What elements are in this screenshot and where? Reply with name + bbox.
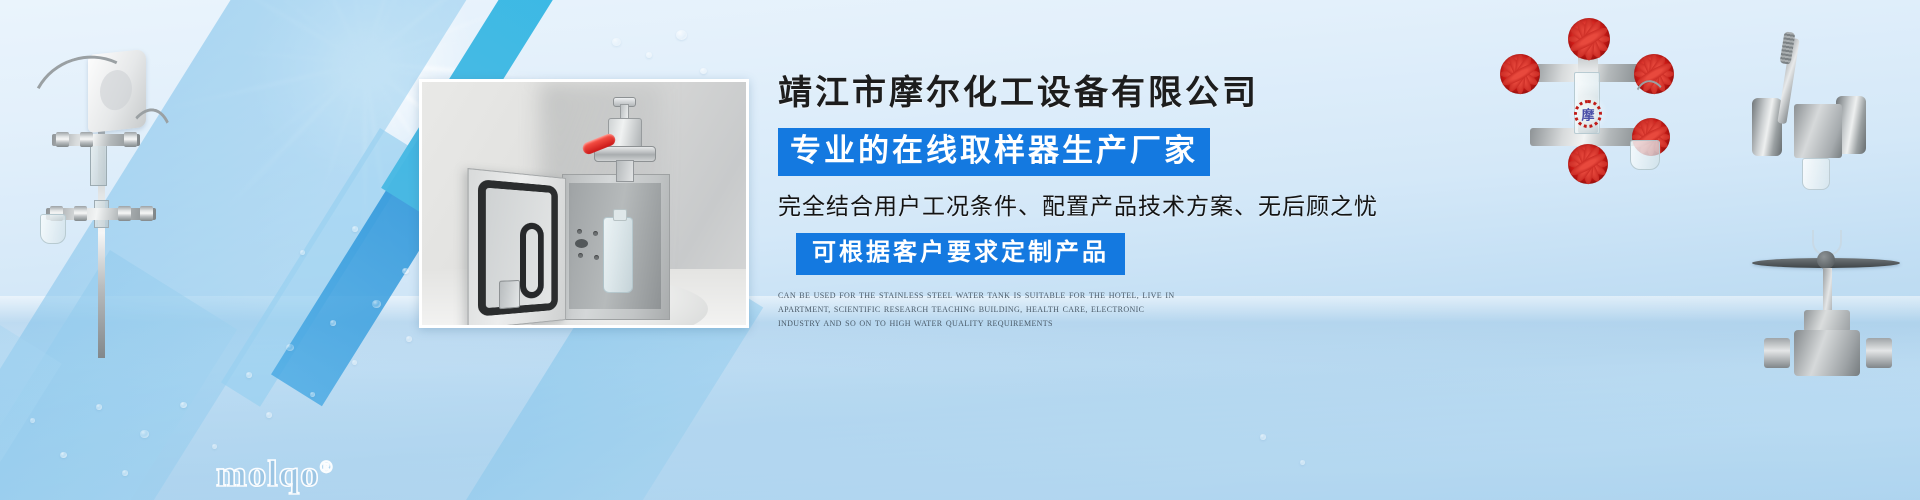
valve-manifold xyxy=(52,134,140,146)
valve-port-left xyxy=(1764,338,1790,368)
water-droplet-icon xyxy=(1300,460,1305,465)
cabinet-bolt-holes xyxy=(577,229,599,265)
valve-crossbar xyxy=(1530,128,1648,146)
water-droplet-icon xyxy=(30,418,35,423)
water-droplet-icon xyxy=(122,470,128,476)
sun-ray xyxy=(364,0,366,63)
watermark-text: molqo xyxy=(216,454,320,495)
water-droplet-icon xyxy=(406,336,412,342)
valve-crossbar xyxy=(1530,64,1648,82)
sun-ray xyxy=(246,0,365,64)
handwheel-left xyxy=(1500,54,1540,94)
sampling-station-with-display-panel xyxy=(6,22,171,284)
sample-bottle xyxy=(603,217,633,293)
online-sampler-cabinet-photo[interactable] xyxy=(419,79,749,328)
sight-glass-tube xyxy=(1574,72,1600,134)
sun-ray xyxy=(263,38,365,63)
english-paragraph: CAN BE USED FOR THE STAINLESS STEEL WATE… xyxy=(778,289,1178,332)
brand-watermark: molqo® xyxy=(216,456,333,493)
water-droplet-icon xyxy=(1260,434,1266,440)
diagonal-stripe-decoration xyxy=(0,300,62,500)
sun-ray xyxy=(363,63,410,158)
watermark-registered-mark: ® xyxy=(320,458,334,477)
handwheel-bottom xyxy=(1568,144,1608,184)
tagline-highlight: 可根据客户要求定制产品 xyxy=(796,233,1125,275)
cabinet-interior xyxy=(569,183,661,309)
valve-nut xyxy=(50,206,63,221)
water-droplet-icon xyxy=(96,404,102,410)
valve-nut xyxy=(124,132,137,147)
valve-stem xyxy=(1823,268,1832,342)
door-gasket xyxy=(478,179,558,316)
sun-ray xyxy=(363,0,431,64)
diagonal-stripe-decoration xyxy=(221,128,419,407)
gate-valve-with-handwheel xyxy=(1738,224,1918,394)
water-droplet-icon xyxy=(310,392,315,397)
water-droplet-icon xyxy=(140,430,149,438)
handwheel-top xyxy=(1568,18,1610,60)
water-droplet-icon xyxy=(180,402,187,408)
handwheel-flat xyxy=(1752,258,1900,268)
sample-bottle xyxy=(1630,140,1660,170)
flanged-lever-valve xyxy=(1702,12,1912,212)
flange-left xyxy=(1752,98,1782,156)
sight-glass-tube xyxy=(90,142,107,186)
company-name: 靖江市摩尔化工设备有限公司 xyxy=(778,72,1398,117)
water-droplet-icon xyxy=(352,360,357,365)
water-droplet-icon xyxy=(300,250,305,255)
sun-ray xyxy=(318,62,365,157)
valve-port-right xyxy=(1866,338,1892,368)
cabinet-enclosure xyxy=(562,174,670,320)
valve-nut xyxy=(118,206,131,221)
banner-copy-block: 靖江市摩尔化工设备有限公司 专业的在线取样器生产厂家 完全结合用户工况条件、配置… xyxy=(778,72,1398,331)
water-droplet-icon xyxy=(646,52,652,58)
headline-highlight: 专业的在线取样器生产厂家 xyxy=(778,128,1210,176)
sampler-valve-head xyxy=(590,104,660,182)
valve-manifold xyxy=(46,208,156,220)
lever-handle xyxy=(1777,38,1799,124)
flexible-hose xyxy=(16,40,162,181)
sun-ray xyxy=(364,9,505,65)
water-droplet-icon xyxy=(612,38,621,46)
sub-headline: 完全结合用户工况条件、配置产品技术方案、无后顾之忧 xyxy=(778,187,1398,221)
water-droplet-icon xyxy=(330,320,336,326)
flange-right xyxy=(1836,96,1866,154)
promotional-banner: 摩 xyxy=(0,0,1920,500)
sun-ray xyxy=(364,39,466,64)
water-droplet-icon xyxy=(246,372,252,378)
sight-glass-tube xyxy=(94,200,109,228)
handwheel-lower-right xyxy=(1632,118,1670,156)
support-pole xyxy=(98,118,105,358)
sun-ray xyxy=(363,63,367,268)
valve-vertical-stem xyxy=(1578,38,1598,134)
sun-ray xyxy=(363,0,526,64)
sun-ray xyxy=(307,0,366,63)
sun-ray xyxy=(215,48,365,64)
valve-body xyxy=(1794,104,1842,158)
valve-seal xyxy=(616,160,634,182)
sun-ray xyxy=(246,62,365,158)
water-droplet-icon xyxy=(402,268,409,274)
sun-ray xyxy=(317,63,366,207)
sun-ray xyxy=(222,62,366,213)
diagonal-stripe-decoration xyxy=(0,250,237,500)
water-droplet-icon xyxy=(700,68,707,74)
sun-ray xyxy=(267,62,365,101)
valve-nut xyxy=(74,206,87,221)
water-droplet-icon xyxy=(676,30,687,40)
handwheel-right xyxy=(1634,54,1674,94)
display-panel xyxy=(88,49,146,133)
cabinet-door xyxy=(468,168,566,328)
valve-bonnet xyxy=(1804,310,1850,332)
flexible-hose xyxy=(1628,78,1675,152)
diagonal-stripe-decoration xyxy=(0,0,488,500)
sun-ray xyxy=(187,0,365,65)
sun-ray xyxy=(164,62,365,112)
english-paragraph-wrapper: CAN BE USED FOR THE STAINLESS STEEL WATE… xyxy=(778,289,1178,332)
valve-nut xyxy=(140,206,153,221)
sun-ray xyxy=(362,0,429,63)
valve-body xyxy=(1794,330,1860,376)
cross-valve-assembly-with-red-handwheels: 摩 xyxy=(1482,22,1697,177)
water-droplet-icon xyxy=(372,300,381,308)
sun-ray xyxy=(343,0,366,63)
sun-ray xyxy=(273,0,366,64)
drain-tube xyxy=(1812,230,1842,256)
sample-bottle xyxy=(40,214,66,244)
sun-ray xyxy=(364,0,437,64)
water-droplet-icon xyxy=(352,226,358,232)
lever-grip xyxy=(1780,31,1796,64)
sun-ray xyxy=(363,63,395,267)
valve-nut xyxy=(80,132,93,147)
company-seal-icon: 摩 xyxy=(1568,94,1608,134)
sample-cup xyxy=(1802,158,1830,190)
valve-nut xyxy=(56,132,69,147)
water-droplet-icon xyxy=(266,412,272,418)
door-handle xyxy=(520,222,544,299)
water-droplet-icon xyxy=(60,452,67,458)
water-droplet-icon xyxy=(212,444,217,449)
water-droplet-icon xyxy=(286,344,294,351)
door-latch xyxy=(499,280,520,309)
flexible-hose xyxy=(111,105,182,222)
